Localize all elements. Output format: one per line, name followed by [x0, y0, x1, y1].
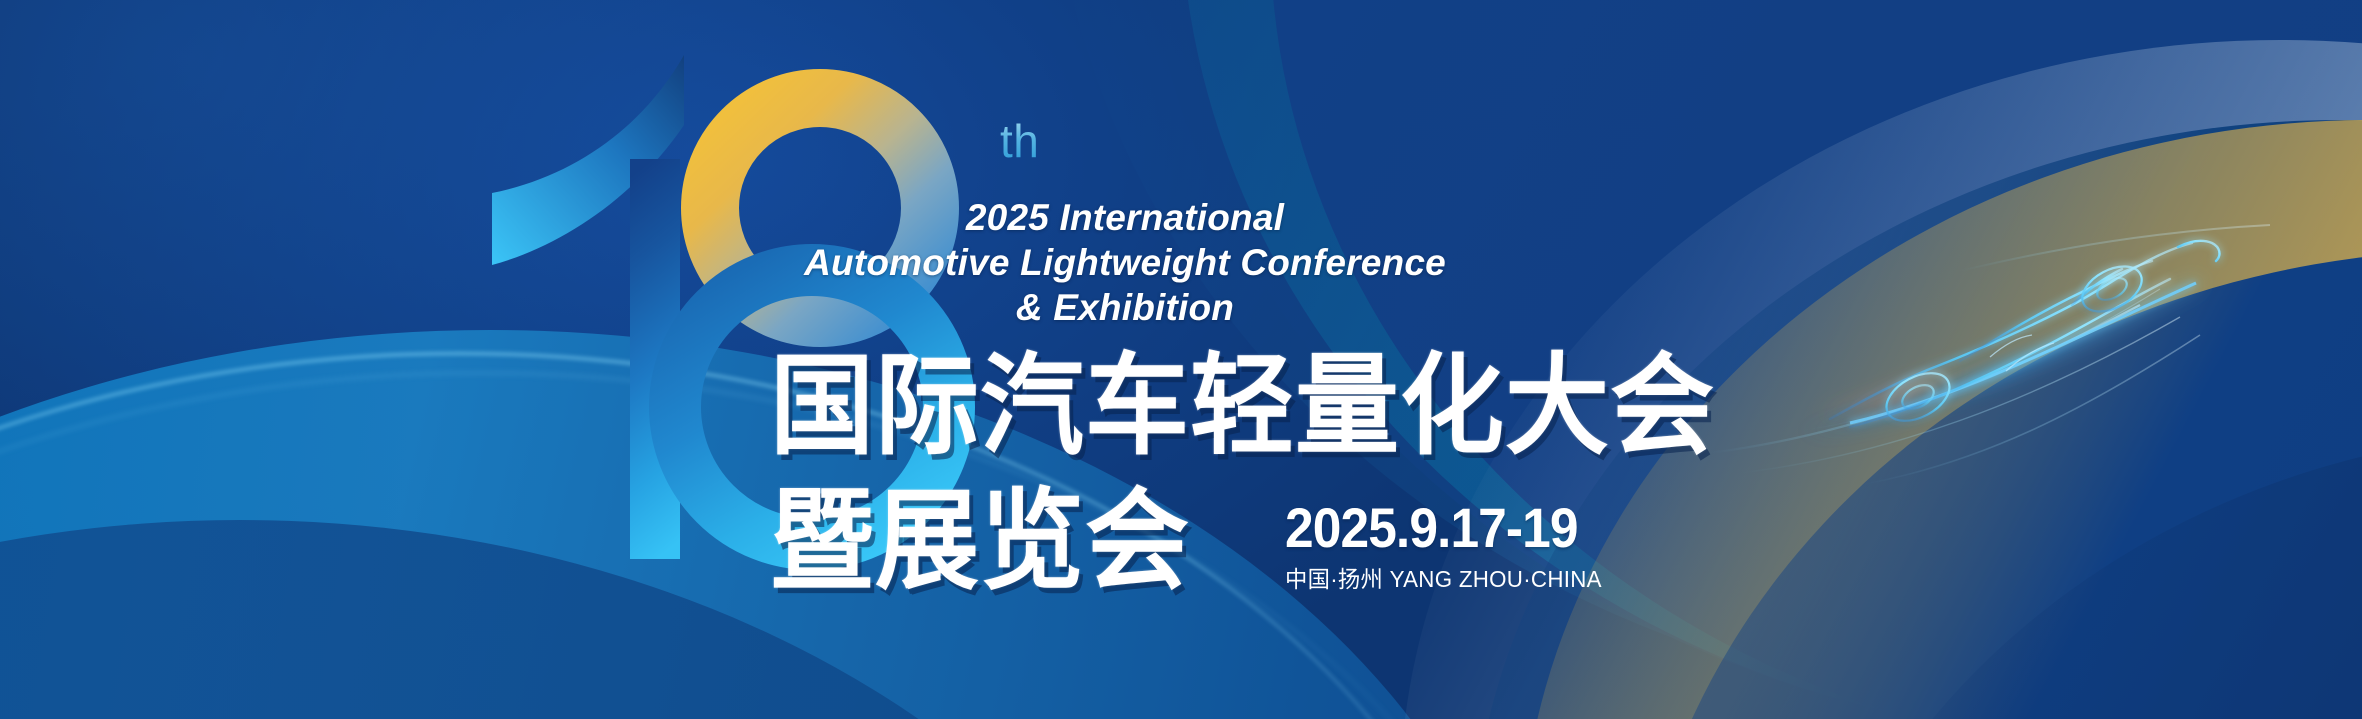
ordinal-suffix: th — [1000, 118, 1039, 164]
chinese-subtitle: 暨展览会 — [770, 487, 1190, 597]
english-title-line-2: Automotive Lightweight Conference — [790, 240, 1460, 285]
event-location: 中国·扬州 YANG ZHOU·CHINA — [1285, 568, 1602, 591]
chinese-title: 国际汽车轻量化大会 — [770, 352, 1715, 462]
event-date: 2025.9.17-19 — [1285, 500, 1585, 556]
english-title-block: 2025 International Automotive Lightweigh… — [790, 195, 1460, 330]
banner-content: th 2025 International Automotive Lightwe… — [0, 0, 2362, 719]
date-location-block: 2025.9.17-19 中国·扬州 YANG ZHOU·CHINA — [1285, 500, 1612, 591]
english-title-line-3: & Exhibition — [790, 285, 1460, 330]
english-title-line-1: 2025 International — [790, 195, 1460, 240]
conference-banner: th 2025 International Automotive Lightwe… — [0, 0, 2362, 719]
